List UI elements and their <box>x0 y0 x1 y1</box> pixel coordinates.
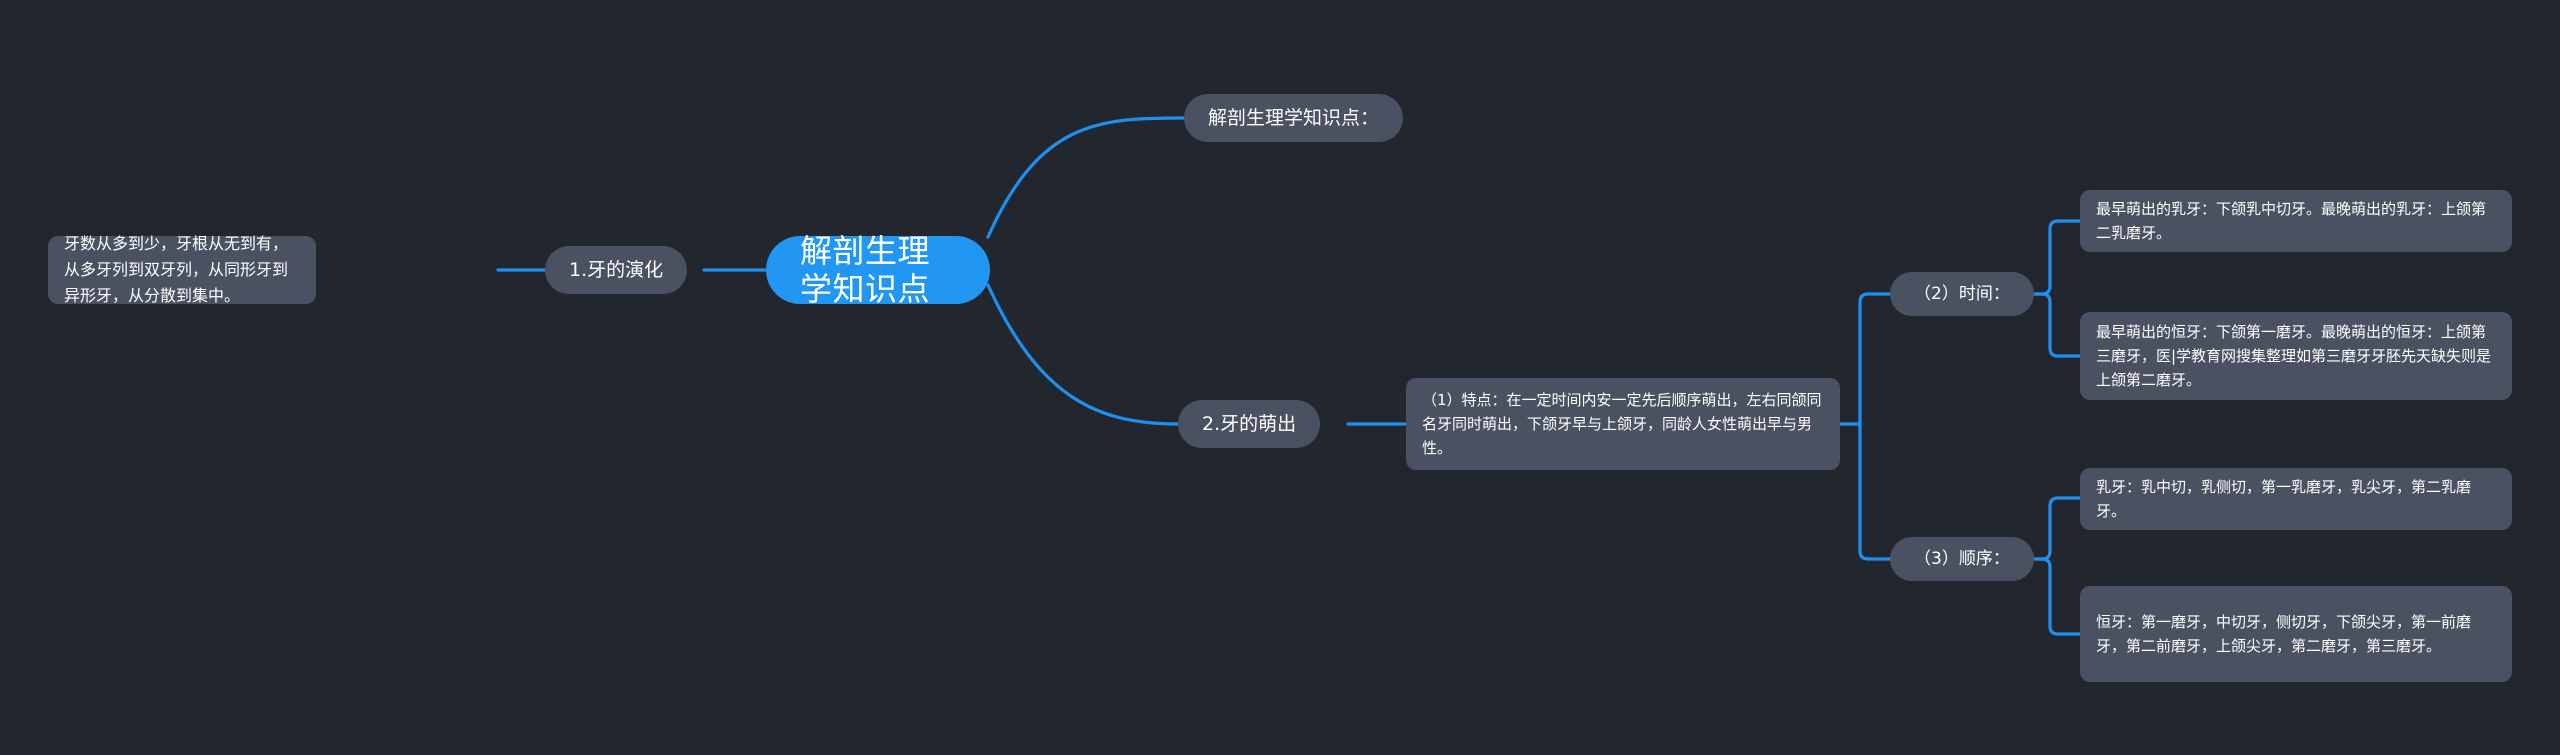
node-branch-2-label: 2.牙的萌出 <box>1202 412 1296 437</box>
node-order-item-2[interactable]: 恒牙：第一磨牙，中切牙，侧切牙，下颌尖牙，第一前磨牙，第二前磨牙，上颌尖牙，第二… <box>2080 586 2512 682</box>
node-order-label[interactable]: （3）顺序： <box>1890 537 2034 581</box>
node-branch-2[interactable]: 2.牙的萌出 <box>1178 400 1320 448</box>
node-order-item-1-text: 乳牙：乳中切，乳侧切，第一乳磨牙，乳尖牙，第二乳磨牙。 <box>2096 475 2496 524</box>
node-heading-label: 解剖生理学知识点： <box>1208 106 1379 131</box>
node-branch-1-detail[interactable]: 牙数从多到少，牙根从无到有，从多牙列到双牙列，从同形牙到异形牙，从分散到集中。 <box>48 236 316 304</box>
node-branch-1-detail-text: 牙数从多到少，牙根从无到有，从多牙列到双牙列，从同形牙到异形牙，从分散到集中。 <box>64 231 300 309</box>
mindmap-canvas: 解剖生理学知识点 解剖生理学知识点： 1.牙的演化 牙数从多到少，牙根从无到有，… <box>0 0 2560 755</box>
edge-root-to-branch2 <box>988 285 1178 424</box>
node-order-item-1[interactable]: 乳牙：乳中切，乳侧切，第一乳磨牙，乳尖牙，第二乳磨牙。 <box>2080 468 2512 530</box>
node-time-item-1-text: 最早萌出的乳牙：下颌乳中切牙。最晚萌出的乳牙：上颌第二乳磨牙。 <box>2096 197 2496 246</box>
node-time-item-2[interactable]: 最早萌出的恒牙：下颌第一磨牙。最晚萌出的恒牙：上颌第三磨牙，医|学教育网搜集整理… <box>2080 312 2512 400</box>
node-branch-2-feature-text: （1）特点：在一定时间内安一定先后顺序萌出，左右同颌同名牙同时萌出，下颌牙早与上… <box>1422 388 1824 461</box>
edge-root-to-heading <box>988 118 1184 237</box>
node-time-item-1[interactable]: 最早萌出的乳牙：下颌乳中切牙。最晚萌出的乳牙：上颌第二乳磨牙。 <box>2080 190 2512 252</box>
node-order-label-text: （3）顺序： <box>1914 548 2010 570</box>
node-order-item-2-text: 恒牙：第一磨牙，中切牙，侧切牙，下颌尖牙，第一前磨牙，第二前磨牙，上颌尖牙，第二… <box>2096 610 2496 659</box>
root-node[interactable]: 解剖生理学知识点 <box>766 236 990 304</box>
root-node-label: 解剖生理学知识点 <box>800 232 956 309</box>
node-time-label-text: （2）时间： <box>1914 283 2010 305</box>
node-time-item-2-text: 最早萌出的恒牙：下颌第一磨牙。最晚萌出的恒牙：上颌第三磨牙，医|学教育网搜集整理… <box>2096 320 2496 393</box>
node-branch-1-label: 1.牙的演化 <box>569 258 663 283</box>
node-heading[interactable]: 解剖生理学知识点： <box>1184 94 1403 142</box>
edge-spine-to-order <box>1860 424 1890 559</box>
node-branch-1[interactable]: 1.牙的演化 <box>545 246 687 294</box>
edge-spine-to-time <box>1860 294 1890 424</box>
node-branch-2-feature[interactable]: （1）特点：在一定时间内安一定先后顺序萌出，左右同颌同名牙同时萌出，下颌牙早与上… <box>1406 378 1840 470</box>
node-time-label[interactable]: （2）时间： <box>1890 272 2034 316</box>
